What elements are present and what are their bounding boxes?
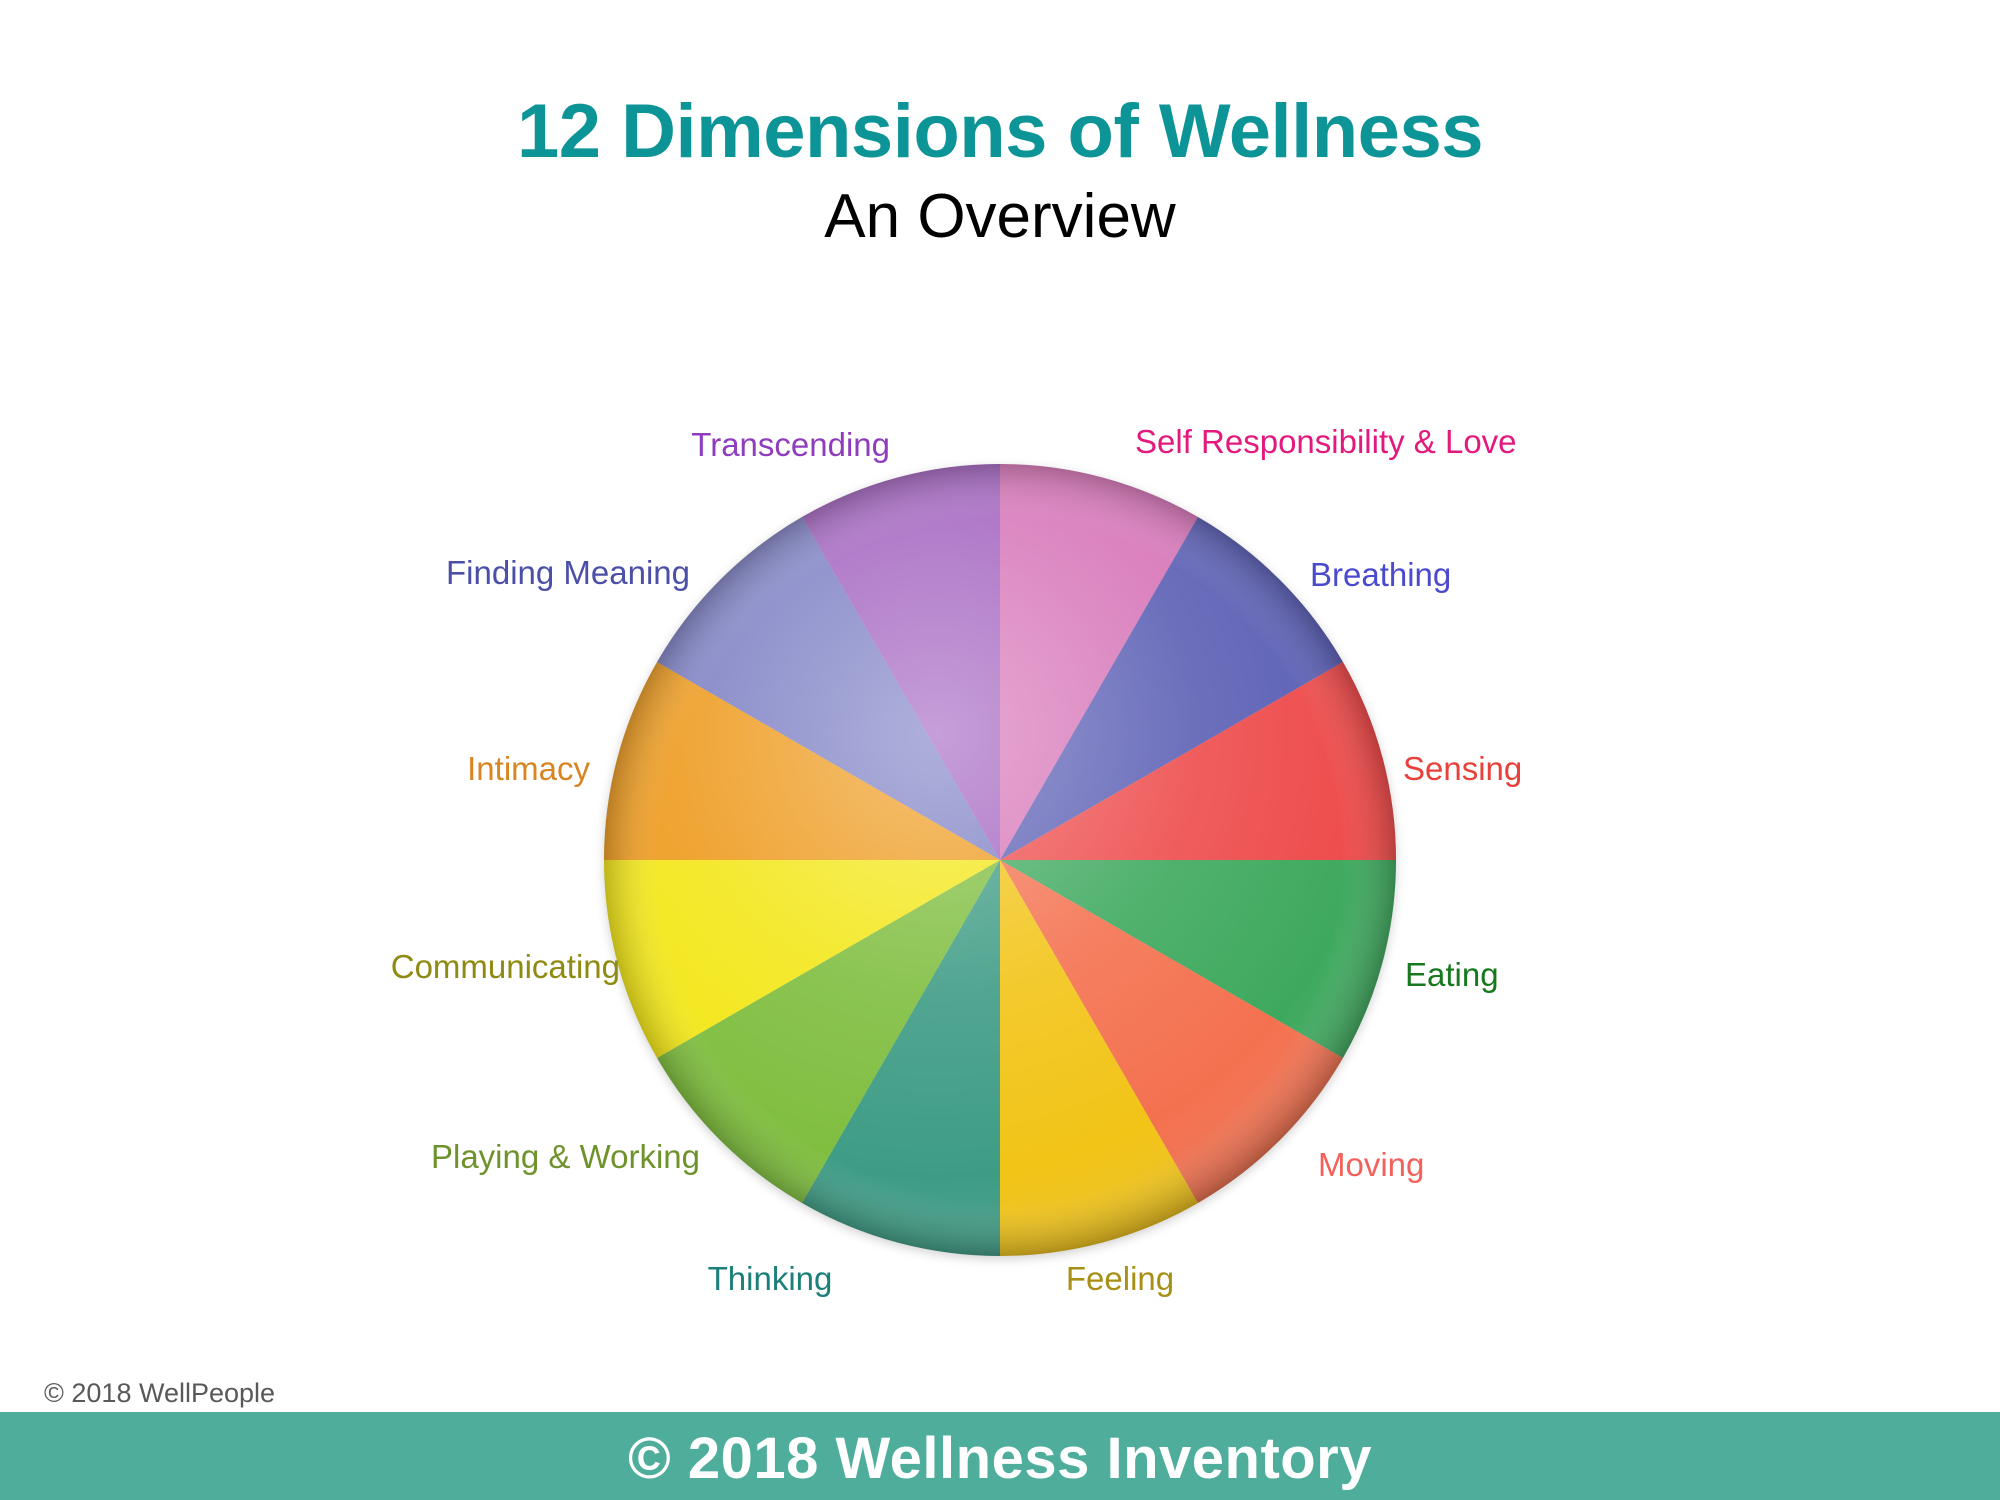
pie-chart-svg xyxy=(600,460,1400,1260)
footer-bar: © 2018 Wellness Inventory xyxy=(0,1412,2000,1500)
slice-label-feeling: Feeling xyxy=(1010,1262,1230,1295)
wellness-wheel-area: Self Responsibility & Love Breathing Sen… xyxy=(0,0,2000,1500)
pie-slices xyxy=(604,464,1396,1256)
slice-label-intimacy: Intimacy xyxy=(260,752,590,785)
slice-label-finding-meaning: Finding Meaning xyxy=(190,556,690,589)
slice-label-breathing: Breathing xyxy=(1310,558,1451,591)
slice-label-moving: Moving xyxy=(1318,1148,1424,1181)
slide-root: 12 Dimensions of Wellness An Overview xyxy=(0,0,2000,1500)
slice-label-playing-working: Playing & Working xyxy=(280,1140,700,1173)
footer-copyright: © 2018 Wellness Inventory xyxy=(628,1425,1372,1492)
slice-label-eating: Eating xyxy=(1405,958,1499,991)
copyright-note: © 2018 WellPeople xyxy=(44,1378,275,1409)
slice-label-self-responsibility: Self Responsibility & Love xyxy=(1135,425,1517,458)
slice-label-thinking: Thinking xyxy=(660,1262,880,1295)
slice-label-transcending: Transcending xyxy=(330,428,890,461)
wellness-wheel xyxy=(600,460,1400,1260)
slice-label-sensing: Sensing xyxy=(1403,752,1522,785)
slice-label-communicating: Communicating xyxy=(220,950,620,983)
